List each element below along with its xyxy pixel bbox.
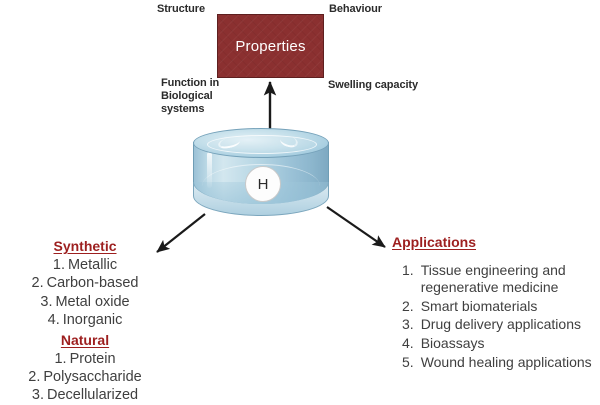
hydrogel-cylinder: H xyxy=(193,128,329,218)
label-structure: Structure xyxy=(157,3,205,16)
applications-panel: Applications 1. Tissue engineering and r… xyxy=(392,234,600,373)
list-item-label: Bioassays xyxy=(421,335,600,352)
list-item-label: Inorganic xyxy=(63,312,123,328)
list-item-number: 2. xyxy=(28,369,40,385)
list-item: 4. Bioassays xyxy=(392,335,600,352)
properties-box: Properties xyxy=(217,14,324,78)
list-item: 1. Tissue engineering and regenerative m… xyxy=(392,262,600,296)
natural-list: 1.Protein 2.Polysaccharide 3.Decellulari… xyxy=(0,350,170,405)
list-item-number: 3. xyxy=(32,387,44,403)
list-item: 4.Inorganic xyxy=(0,311,170,329)
list-item-number: 1. xyxy=(402,262,414,296)
list-item-number: 2. xyxy=(402,298,414,315)
list-item-number: 4. xyxy=(402,335,414,352)
heading-natural: Natural xyxy=(0,332,170,348)
hydrogel-h-badge: H xyxy=(245,166,281,202)
cylinder-top-ellipse xyxy=(193,128,329,158)
list-item-number: 3. xyxy=(402,316,414,333)
list-item-label: Metal oxide xyxy=(55,294,129,310)
list-item: 3.Decellularized xyxy=(0,386,170,404)
list-item-label: Tissue engineering and regenerative medi… xyxy=(421,262,600,296)
list-item-number: 1. xyxy=(54,351,66,367)
list-item: 1.Protein xyxy=(0,350,170,368)
applications-list: 1. Tissue engineering and regenerative m… xyxy=(392,262,600,371)
list-item: 1.Metallic xyxy=(0,256,170,274)
list-item: 5. Wound healing applications xyxy=(392,354,600,371)
list-item-label: Metallic xyxy=(68,257,117,273)
heading-applications: Applications xyxy=(392,234,600,250)
list-item-number: 4. xyxy=(48,312,60,328)
list-item-label: Carbon-based xyxy=(47,275,139,291)
list-item: 3.Metal oxide xyxy=(0,293,170,311)
cylinder-side-gloss xyxy=(207,152,212,188)
list-item-label: Smart biomaterials xyxy=(421,298,600,315)
list-item-label: Polysaccharide xyxy=(43,369,141,385)
list-item: 2.Carbon-based xyxy=(0,274,170,292)
list-item-label: Decellularized xyxy=(47,387,138,403)
diagram-canvas: Structure Behaviour Function in Biologic… xyxy=(0,0,600,405)
arrow-hydrogel-to-applications xyxy=(327,207,385,247)
list-item: 3. Drug delivery applications xyxy=(392,316,600,333)
properties-box-label: Properties xyxy=(235,38,305,55)
list-item-number: 3. xyxy=(40,294,52,310)
label-swelling-capacity: Swelling capacity xyxy=(328,79,418,92)
list-item: 2. Smart biomaterials xyxy=(392,298,600,315)
list-item-number: 2. xyxy=(32,275,44,291)
synthetic-list: 1.Metallic 2.Carbon-based 3.Metal oxide … xyxy=(0,256,170,330)
list-item-number: 1. xyxy=(53,257,65,273)
list-item-number: 5. xyxy=(402,354,414,371)
list-item: 2.Polysaccharide xyxy=(0,368,170,386)
synthetic-natural-panel: Synthetic 1.Metallic 2.Carbon-based 3.Me… xyxy=(0,238,170,405)
list-item-label: Protein xyxy=(70,351,116,367)
list-item-label: Drug delivery applications xyxy=(421,316,600,333)
list-item-label: Wound healing applications xyxy=(421,354,600,371)
label-behaviour: Behaviour xyxy=(329,3,382,16)
heading-synthetic: Synthetic xyxy=(0,238,170,254)
label-function-in-biological-systems: Function in Biological systems xyxy=(161,77,221,116)
